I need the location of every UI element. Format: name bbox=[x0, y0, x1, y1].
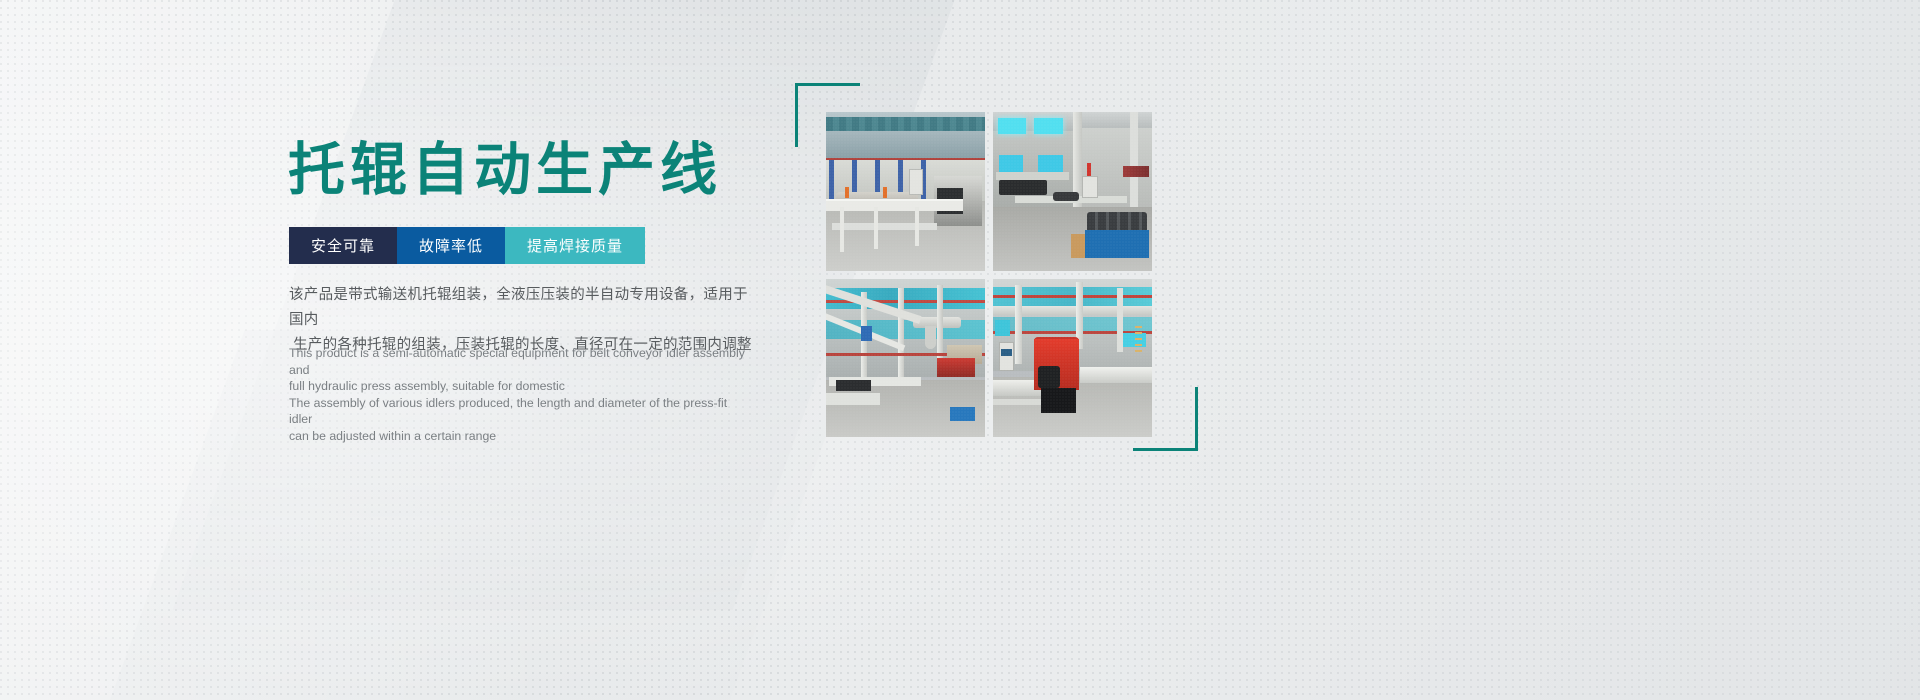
description-en-line-4: can be adjusted within a certain range bbox=[289, 428, 749, 445]
photo-conveyor-line[interactable] bbox=[826, 112, 985, 271]
feature-badge-group: 安全可靠 故障率低 提高焊接质量 bbox=[289, 227, 645, 264]
badge-safe-reliable[interactable]: 安全可靠 bbox=[289, 227, 397, 264]
photo-factory-hall[interactable] bbox=[826, 279, 985, 437]
banner-content: 托辊自动生产线 安全可靠 故障率低 提高焊接质量 该产品是带式输送机托辊组装，全… bbox=[0, 0, 1920, 700]
page-title: 托辊自动生产线 bbox=[288, 142, 722, 199]
photo-gallery-grid bbox=[826, 112, 1152, 435]
description-en-line-2: full hydraulic press assembly, suitable … bbox=[289, 378, 749, 395]
description-en-line-3: The assembly of various idlers produced,… bbox=[289, 395, 749, 428]
description-cn-line-1: 该产品是带式输送机托辊组装，全液压压装的半自动专用设备，适用于国内 bbox=[289, 283, 759, 333]
badge-improved-weld-quality[interactable]: 提高焊接质量 bbox=[505, 227, 645, 264]
photo-red-press-machine[interactable] bbox=[993, 279, 1152, 437]
badge-low-failure-rate[interactable]: 故障率低 bbox=[397, 227, 505, 264]
photo-workshop-rollers[interactable] bbox=[993, 112, 1152, 271]
description-english: This product is a semi-automatic special… bbox=[289, 345, 749, 444]
description-en-line-1: This product is a semi-automatic special… bbox=[289, 345, 749, 378]
